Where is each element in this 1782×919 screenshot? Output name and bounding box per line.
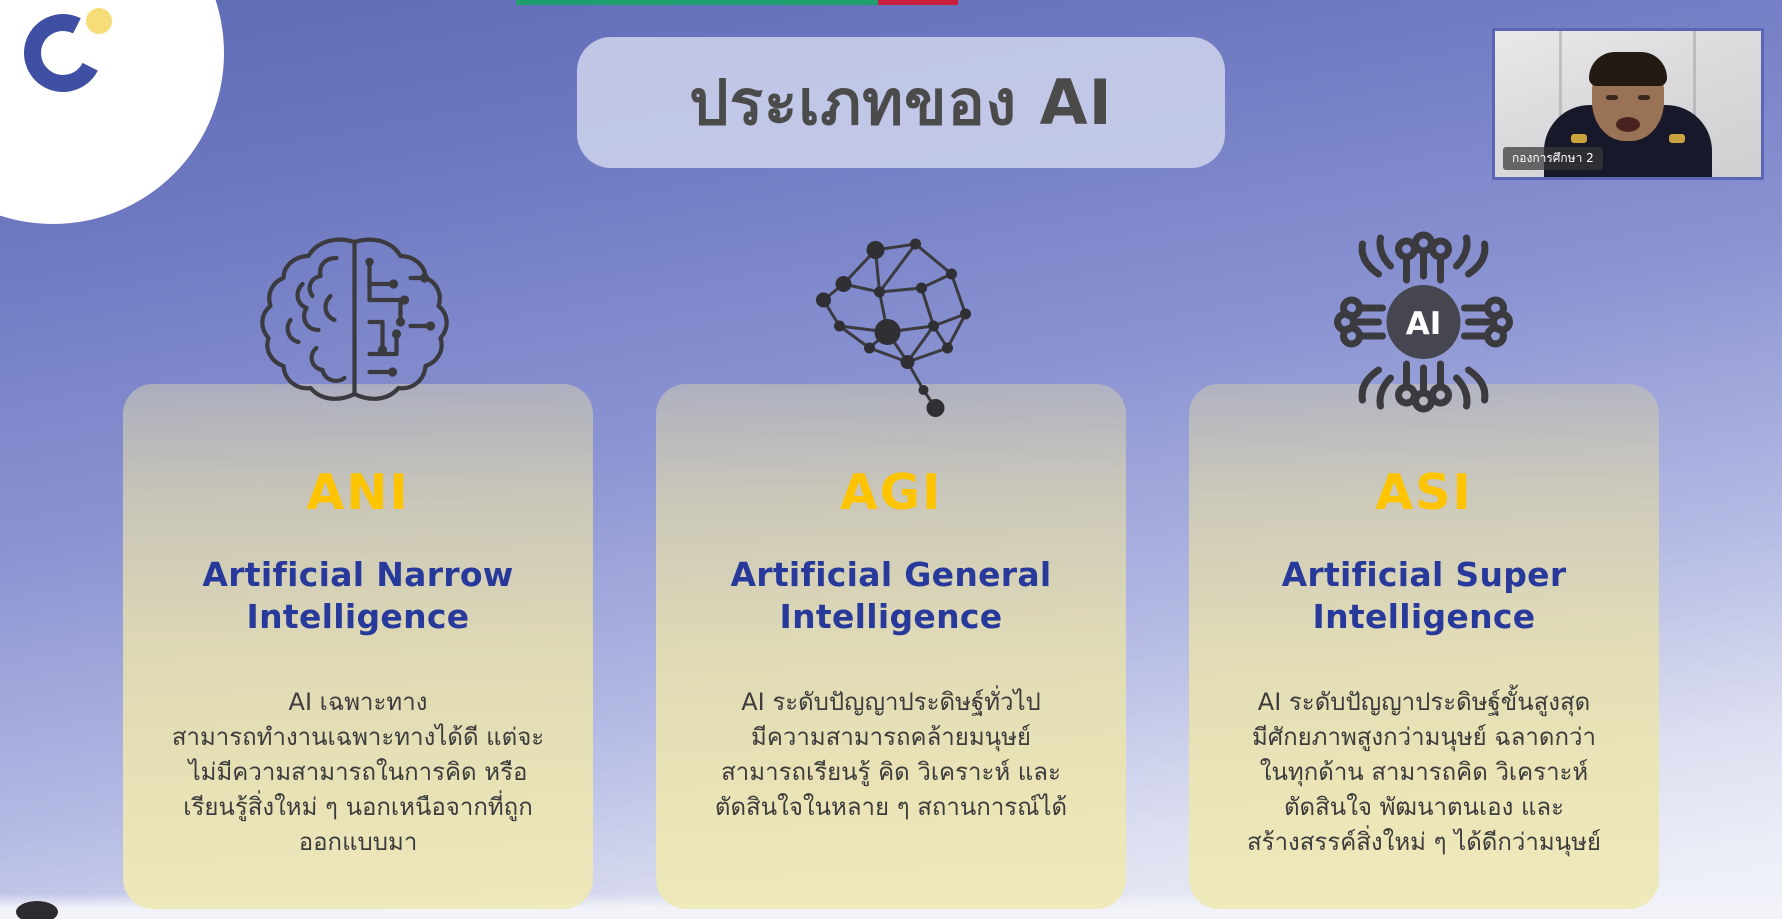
participant-eye (1638, 95, 1650, 100)
slide-title-pill: ประเภทของ AI (577, 37, 1225, 168)
participant-name-label: กองการศึกษา 2 (1503, 147, 1603, 170)
ai-chip-label: AI (1406, 306, 1442, 342)
card-abbreviation: ASI (1215, 468, 1633, 517)
card-description: AI เฉพาะทาง สามารถทำงานเฉพาะทางได้ดี แต่… (149, 685, 567, 859)
neural-network-brain-icon (784, 222, 999, 422)
participant-mouth (1616, 117, 1640, 132)
card-title: Artificial Narrow Intelligence (149, 554, 567, 638)
split-brain-circuit-icon (251, 222, 466, 422)
participant-hair (1589, 52, 1667, 86)
slide-title: ประเภทของ AI (689, 72, 1112, 134)
ai-chip-icon: AI (1317, 222, 1532, 422)
uniform-insignia (1669, 134, 1685, 143)
card-description: AI ระดับปัญญาประดิษฐ์ขั้นสูงสุด มีศักยภา… (1215, 685, 1633, 859)
circle-c-logo-icon (24, 14, 110, 100)
logo-yellow-dot-icon (86, 8, 112, 34)
ai-type-card-row: ANI Artificial Narrow Intelligence AI เฉ… (0, 384, 1782, 909)
uniform-insignia (1571, 134, 1587, 143)
top-progress-bars (0, 0, 1782, 6)
card-abbreviation: AGI (682, 468, 1100, 517)
card-description: AI ระดับปัญญาประดิษฐ์ทั่วไป มีความสามารถ… (682, 685, 1100, 824)
card-abbreviation: ANI (149, 468, 567, 517)
webcam-overlay[interactable]: กองการศึกษา 2 (1492, 28, 1764, 180)
card-title: Artificial General Intelligence (682, 554, 1100, 638)
slide-canvas: ประเภทของ AI กองการศึกษา 2 (0, 0, 1782, 919)
participant-face (1592, 55, 1664, 141)
card-agi[interactable]: AGI Artificial General Intelligence AI ร… (656, 384, 1126, 909)
webcam-video-feed: กองการศึกษา 2 (1495, 31, 1761, 177)
bottom-left-marker (16, 901, 58, 919)
card-asi[interactable]: AI (1189, 384, 1659, 909)
red-progress-bar (878, 0, 958, 5)
participant-eye (1606, 95, 1618, 100)
green-progress-bar (516, 0, 878, 5)
brand-logo-circle (0, 0, 224, 224)
card-ani[interactable]: ANI Artificial Narrow Intelligence AI เฉ… (123, 384, 593, 909)
card-title: Artificial Super Intelligence (1215, 554, 1633, 638)
progress-spacer-right (958, 0, 1782, 6)
